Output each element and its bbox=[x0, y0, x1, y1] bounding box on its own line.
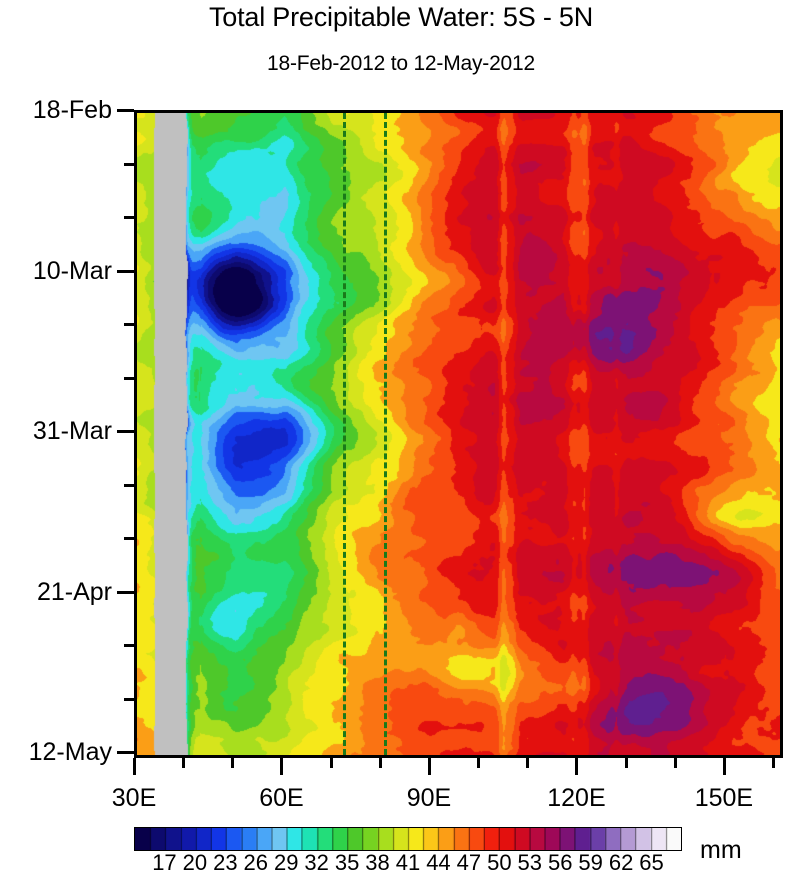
colorbar-tick-label: 53 bbox=[518, 851, 542, 875]
y-tick-major bbox=[117, 751, 134, 754]
vline-annotation bbox=[384, 113, 387, 755]
colorbar-units-label: mm bbox=[700, 836, 742, 864]
x-axis-label: 90E bbox=[407, 784, 451, 812]
colorbar-tick-label: 29 bbox=[274, 851, 298, 875]
colorbar-swatches bbox=[134, 827, 682, 851]
y-axis-label: 10-Mar bbox=[0, 257, 112, 285]
colorbar-tick-label: 26 bbox=[244, 851, 268, 875]
x-axis-label: 150E bbox=[695, 784, 753, 812]
x-tick-minor bbox=[182, 758, 185, 768]
colorbar bbox=[134, 827, 682, 851]
x-tick-major bbox=[428, 758, 431, 775]
x-tick-minor bbox=[330, 758, 333, 768]
x-axis-label: 30E bbox=[112, 784, 156, 812]
y-tick-major bbox=[117, 270, 134, 273]
colorbar-tick-label: 35 bbox=[335, 851, 359, 875]
y-tick-minor bbox=[124, 163, 134, 166]
colorbar-tick-label: 62 bbox=[609, 851, 633, 875]
hovmoller-plot-area bbox=[134, 110, 783, 758]
y-tick-minor bbox=[124, 377, 134, 380]
x-tick-minor bbox=[526, 758, 529, 768]
colorbar-tick-label: 44 bbox=[426, 851, 450, 875]
y-axis-label: 12-May bbox=[0, 738, 112, 766]
y-tick-minor bbox=[124, 537, 134, 540]
x-tick-minor bbox=[625, 758, 628, 768]
colorbar-tick-label: 32 bbox=[304, 851, 328, 875]
x-tick-major bbox=[133, 758, 136, 775]
y-tick-minor bbox=[124, 323, 134, 326]
colorbar-tick-label: 47 bbox=[457, 851, 481, 875]
x-axis-label: 60E bbox=[259, 784, 303, 812]
y-tick-minor bbox=[124, 698, 134, 701]
colorbar-tick-label: 50 bbox=[487, 851, 511, 875]
y-tick-minor bbox=[124, 644, 134, 647]
x-tick-minor bbox=[231, 758, 234, 768]
x-tick-major bbox=[280, 758, 283, 775]
y-tick-major bbox=[117, 109, 134, 112]
y-axis-label: 31-Mar bbox=[0, 417, 112, 445]
colorbar-tick-label: 41 bbox=[396, 851, 420, 875]
y-tick-minor bbox=[124, 484, 134, 487]
x-tick-minor bbox=[379, 758, 382, 768]
y-tick-major bbox=[117, 591, 134, 594]
x-tick-minor bbox=[772, 758, 775, 768]
colorbar-tick-label: 56 bbox=[548, 851, 572, 875]
y-tick-major bbox=[117, 430, 134, 433]
x-tick-major bbox=[723, 758, 726, 775]
figure-root: Total Precipitable Water: 5S - 5N 18-Feb… bbox=[0, 0, 802, 872]
colorbar-tick-label: 20 bbox=[183, 851, 207, 875]
precipitable-water-field bbox=[137, 113, 780, 755]
x-tick-major bbox=[575, 758, 578, 775]
x-tick-minor bbox=[674, 758, 677, 768]
colorbar-tick-label: 23 bbox=[213, 851, 237, 875]
colorbar-tick-label: 59 bbox=[578, 851, 602, 875]
y-axis-label: 18-Feb bbox=[0, 96, 112, 124]
y-axis-label: 21-Apr bbox=[0, 578, 112, 606]
colorbar-tick-label: 65 bbox=[639, 851, 663, 875]
y-tick-minor bbox=[124, 216, 134, 219]
colorbar-tick-label: 38 bbox=[365, 851, 389, 875]
vline-annotation bbox=[343, 113, 346, 755]
page-title: Total Precipitable Water: 5S - 5N bbox=[0, 2, 802, 32]
colorbar-tick-label: 17 bbox=[152, 851, 176, 875]
figure-subtitle: 18-Feb-2012 to 12-May-2012 bbox=[0, 52, 802, 76]
x-tick-minor bbox=[477, 758, 480, 768]
x-axis-label: 120E bbox=[547, 784, 605, 812]
